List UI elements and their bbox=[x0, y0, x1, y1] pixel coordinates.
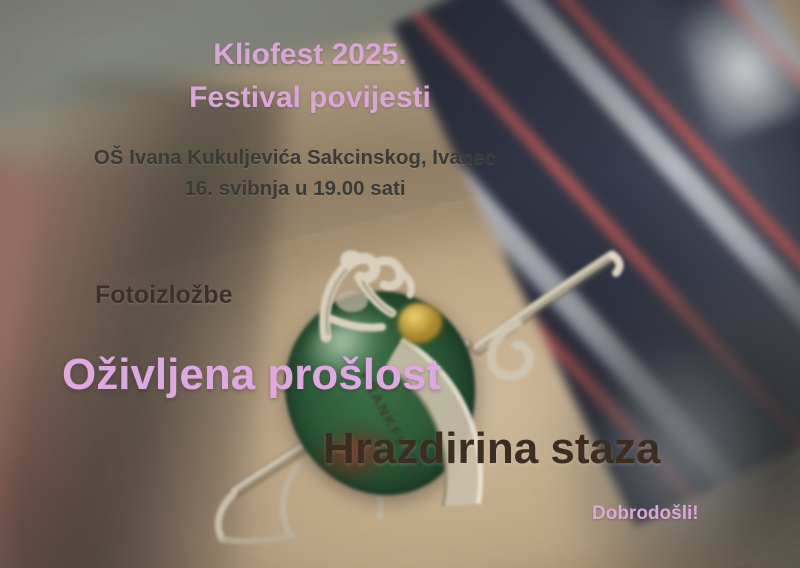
poster-title: Kliofest 2025. Festival povijesti bbox=[0, 34, 620, 119]
poster-canvas: FRANKFURT bbox=[0, 0, 800, 568]
poster-venue-and-time: OŠ Ivana Kukuljevića Sakcinskog, Ivanec … bbox=[0, 142, 590, 204]
exhibition-title-hrazdirina-staza: Hrazdirina staza bbox=[323, 424, 660, 474]
welcome-message: Dobrodošli! bbox=[592, 503, 699, 525]
section-label-photo-exhibitions: Fotoizložbe bbox=[95, 281, 232, 310]
exhibition-title-ozivljena-proslost: Oživljena prošlost bbox=[62, 350, 441, 400]
